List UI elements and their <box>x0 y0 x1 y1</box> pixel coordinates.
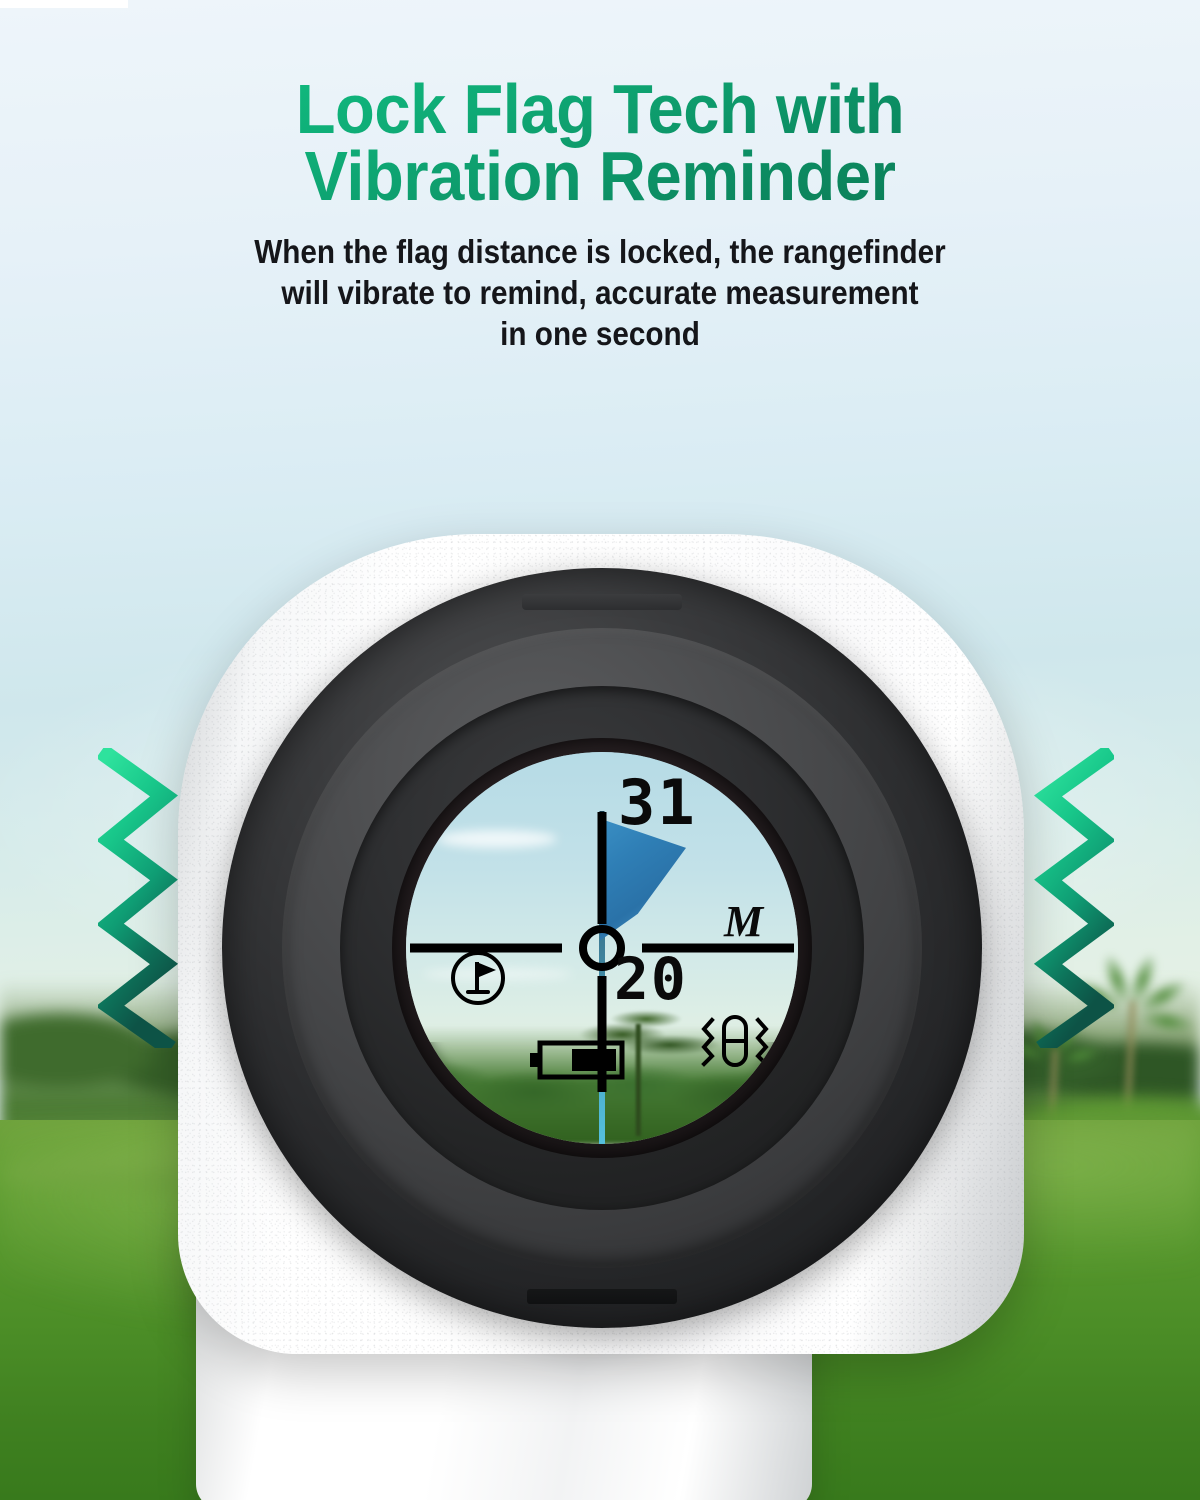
headline-line-2: Vibration Reminder <box>42 143 1158 210</box>
lens-ring-inner: 31 M 20 <box>340 686 864 1210</box>
zigzag-wave-icon-right <box>1034 748 1114 1048</box>
subtitle-line-2: will vibrate to remind, accurate measure… <box>60 273 1140 314</box>
lens-notch-bottom <box>527 1289 677 1304</box>
crosshair-line-top <box>598 812 607 924</box>
flag-in-circle-icon <box>448 948 508 1008</box>
product-feature-banner: Lock Flag Tech with Vibration Reminder W… <box>0 0 1200 1500</box>
lens-ring-middle: 31 M 20 <box>282 628 922 1268</box>
lcd-overlay: 31 M 20 <box>406 752 798 1144</box>
distance-secondary-readout: 20 <box>614 950 688 1008</box>
lens-bezel: 31 M 20 <box>392 738 812 1158</box>
subtitle-line-1: When the flag distance is locked, the ra… <box>60 232 1140 273</box>
page-title: Lock Flag Tech with Vibration Reminder <box>42 0 1158 210</box>
zigzag-wave-icon-left <box>98 748 178 1048</box>
copy-block: Lock Flag Tech with Vibration Reminder W… <box>0 0 1200 355</box>
distance-primary-readout: 31 <box>618 772 697 834</box>
battery-icon <box>530 1040 626 1080</box>
lens-notch-top <box>522 594 682 610</box>
subtitle-line-3: in one second <box>60 314 1140 355</box>
distance-unit-label: M <box>724 900 763 944</box>
lens-barrel-outer: 31 M 20 <box>222 568 982 1328</box>
vibration-capsule-icon <box>696 1012 772 1070</box>
page-subtitle: When the flag distance is locked, the ra… <box>60 232 1140 355</box>
viewfinder-display: 31 M 20 <box>406 752 798 1144</box>
